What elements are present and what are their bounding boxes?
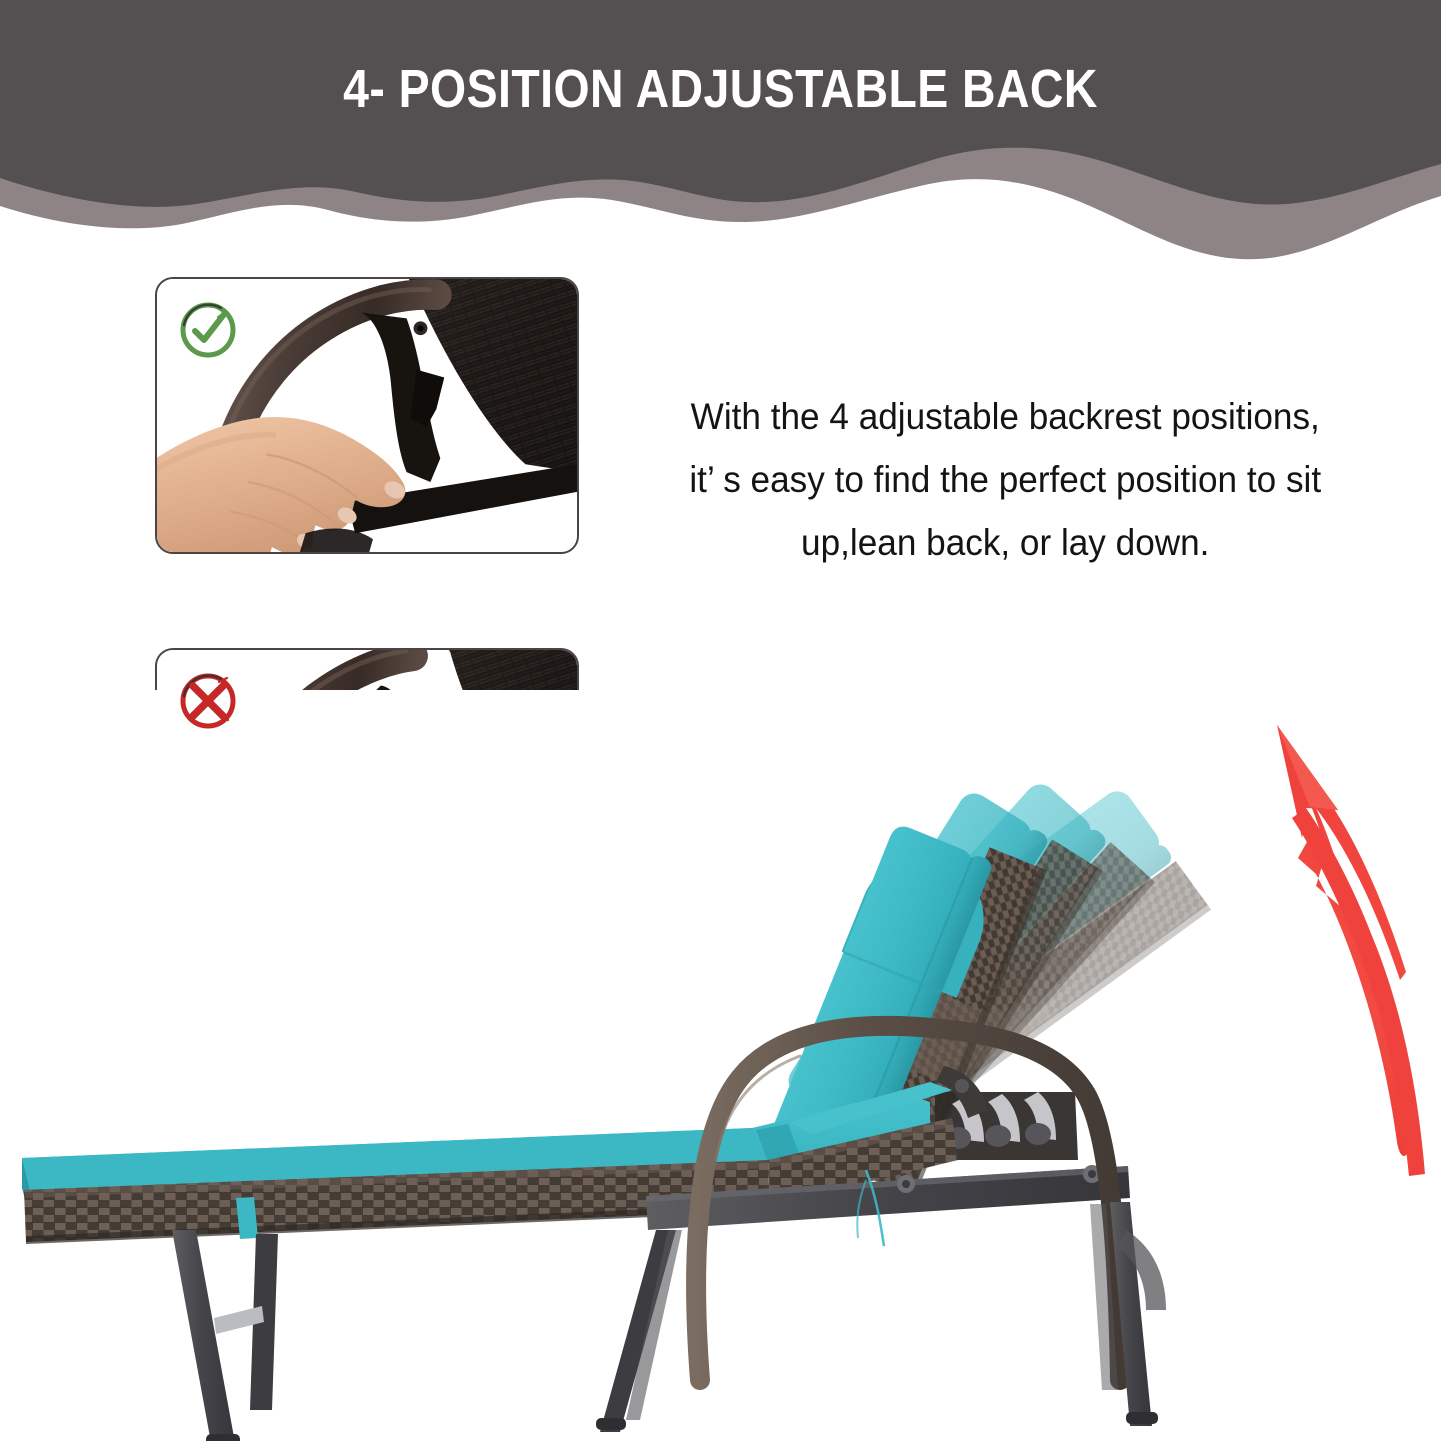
- description-line-3: up,lean back, or lay down.: [630, 511, 1381, 574]
- description-line-1: With the 4 adjustable backrest positions…: [630, 385, 1381, 448]
- panel-correct-usage: [155, 277, 579, 554]
- description-text: With the 4 adjustable backrest positions…: [630, 385, 1381, 574]
- header-wave-graphic: [0, 0, 1441, 262]
- product-infographic: 4- POSITION ADJUSTABLE BACK: [0, 0, 1441, 1441]
- description-line-2: it’ s easy to find the perfect position …: [630, 448, 1381, 511]
- x-circle-icon: [177, 670, 239, 732]
- check-circle-icon: [177, 299, 239, 361]
- page-title: 4- POSITION ADJUSTABLE BACK: [101, 58, 1340, 120]
- chaise-lounge-illustration: [0, 690, 1441, 1441]
- header-banner: 4- POSITION ADJUSTABLE BACK: [0, 0, 1441, 262]
- chaise-lounge-graphic: [0, 690, 1441, 1441]
